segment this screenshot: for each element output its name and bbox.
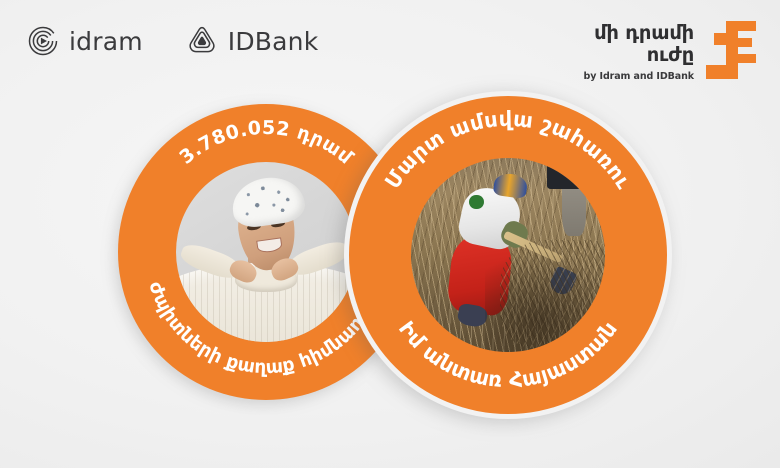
idram-spiral-logo-icon xyxy=(26,24,60,58)
circle-right-org-text: Իմ անտառ Հայաստան xyxy=(394,317,622,392)
amount-textpath: 3.780.052 դրամ xyxy=(175,117,357,170)
one-dram-symbol-icon xyxy=(704,21,758,79)
brand-bar: idram IDBank xyxy=(26,24,318,58)
organization-textpath: Իմ անտառ Հայաստան xyxy=(394,317,622,392)
campaign-title-line2: ուժը xyxy=(584,44,694,66)
idbank-logo: IDBank xyxy=(185,24,319,58)
idram-wordmark: idram xyxy=(69,27,143,56)
circle-left-amount-text: 3.780.052 դրամ xyxy=(175,117,357,170)
campaign-title-line1: մի դրամի xyxy=(584,22,694,44)
idram-logo: idram xyxy=(26,24,143,58)
campaign-byline: by Idram and IDBank xyxy=(584,71,694,82)
circle-right-curved-text: Մարտ ամսվա շահառու Իմ անտառ Հայաստան xyxy=(349,96,667,414)
campaign-logo: մի դրամի ուժը by Idram and IDBank xyxy=(584,20,758,82)
period-textpath: Մարտ ամսվա շահառու xyxy=(380,107,636,193)
promo-banner: idram IDBank մի դրամի ուժը by Idram and … xyxy=(0,0,780,468)
circle-right-period-text: Մարտ ամսվա շահառու xyxy=(380,107,636,193)
campaign-logo-text: մի դրամի ուժը by Idram and IDBank xyxy=(584,20,694,82)
idbank-triangle-logo-icon xyxy=(185,24,219,58)
beneficiary-circle-right: Մարտ ամսվա շահառու Իմ անտառ Հայաստան xyxy=(349,96,667,414)
idbank-wordmark: IDBank xyxy=(228,27,319,56)
